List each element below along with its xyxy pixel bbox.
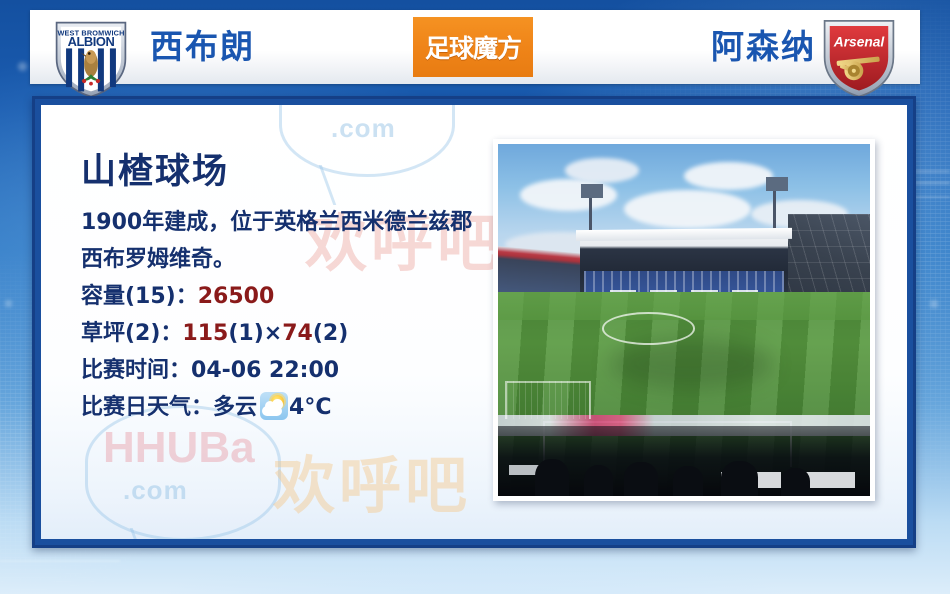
capacity-value: 26500 <box>198 284 275 309</box>
away-team-name: 阿森纳 <box>668 10 816 84</box>
watermark-cn-text: 欢呼吧 <box>273 435 471 525</box>
match-time-row: 比赛时间：04-06 22:00 <box>81 352 481 389</box>
spectator-silhouette <box>584 465 614 496</box>
floodlight-head <box>581 184 603 198</box>
weather-condition: 多云 <box>213 395 257 420</box>
pitch-shadow <box>610 337 774 390</box>
pitch-label: 草坪(2)： <box>81 321 182 346</box>
temperature-value: 4°C <box>289 395 331 420</box>
match-time-value: 04-06 22:00 <box>191 358 339 383</box>
match-time-label: 比赛时间： <box>81 358 191 383</box>
pitch-separator: × <box>264 321 282 346</box>
spectator-silhouette <box>624 462 657 496</box>
pitch-row: 草坪(2)：115(1)×74(2) <box>81 315 481 352</box>
goal-net <box>505 381 591 418</box>
weather-label: 比赛日天气： <box>81 395 213 420</box>
cloud <box>684 162 773 190</box>
spectator-silhouette <box>535 459 568 496</box>
watermark-brand: HHUBa <box>103 423 255 473</box>
site-logo[interactable]: 足球魔方 <box>413 17 533 77</box>
spectator-silhouette <box>721 461 758 496</box>
spectator-silhouette <box>781 468 811 496</box>
site-logo-text: 足球魔方 <box>425 29 521 65</box>
venue-info: 山楂球场 1900年建成，位于英格兰西米德兰兹郡西布罗姆维奇。 容量(15)：2… <box>81 153 481 426</box>
sun-behind-cloud-icon <box>260 392 288 420</box>
background-streak <box>0 560 120 562</box>
floodlight-head <box>766 177 788 191</box>
home-team-name: 西布朗 <box>150 10 255 84</box>
watermark-domain: .com <box>123 475 188 506</box>
pitch-width-value: 74 <box>282 321 313 346</box>
app-root: WEST BROMWICH ALBION 西布朗 足球魔方 阿森纳 <box>0 0 950 594</box>
watermark-domain: .com <box>331 113 396 144</box>
svg-text:Arsenal: Arsenal <box>833 35 886 50</box>
capacity-label: 容量(15)： <box>81 284 198 309</box>
background-dot <box>18 62 27 71</box>
arsenal-crest[interactable]: Arsenal <box>816 14 902 100</box>
center-circle <box>602 312 695 345</box>
spectator-silhouette <box>673 466 703 496</box>
match-header-bar: WEST BROMWICH ALBION 西布朗 足球魔方 阿森纳 <box>30 10 920 84</box>
background-dot <box>5 300 12 307</box>
stadium-photo <box>498 144 870 496</box>
venue-card-frame: .com HHUBa .com HHUBa .com 欢呼吧 欢呼吧 山楂球场 … <box>32 96 916 548</box>
pitch-width-note: (2) <box>313 321 348 346</box>
pitch-length-note: (1) <box>228 321 263 346</box>
west-bromwich-albion-crest[interactable]: WEST BROMWICH ALBION <box>48 14 134 100</box>
stadium-photo-frame[interactable] <box>493 139 875 501</box>
weather-row: 比赛日天气：多云4°C <box>81 389 481 426</box>
venue-title: 山楂球场 <box>81 153 481 192</box>
pitch-length-value: 115 <box>182 321 228 346</box>
cloud <box>565 158 639 183</box>
background-dot <box>930 300 938 308</box>
foreground-stand <box>498 426 870 496</box>
pitch-far-half <box>498 292 870 321</box>
cloud <box>624 190 750 229</box>
svg-text:ALBION: ALBION <box>68 34 115 49</box>
venue-card: .com HHUBa .com HHUBa .com 欢呼吧 欢呼吧 山楂球场 … <box>41 105 907 539</box>
venue-description: 1900年建成，位于英格兰西米德兰兹郡西布罗姆维奇。 <box>81 204 479 278</box>
capacity-row: 容量(15)：26500 <box>81 278 481 315</box>
